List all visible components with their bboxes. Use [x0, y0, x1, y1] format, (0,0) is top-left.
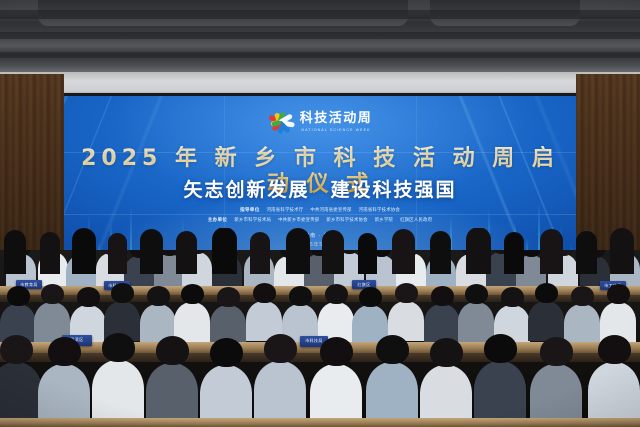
audience-head: [576, 231, 597, 274]
audience-head: [102, 333, 135, 362]
science-week-logo: 科技活动周 NATIONAL SCIENCE WEEK: [268, 110, 373, 134]
audience-head: [484, 334, 517, 363]
audience-head: [250, 232, 270, 274]
audience-head: [40, 232, 60, 274]
organizer-item: 新乡市科学技术局: [234, 217, 271, 225]
audience-head: [4, 230, 26, 274]
audience-head: [156, 336, 189, 365]
audience-head: [540, 229, 563, 274]
audience-member: [366, 362, 418, 422]
event-subtitle: 矢志创新发展 建设科技强国: [64, 178, 576, 202]
audience-head: [571, 286, 594, 306]
organizer-row-guidance: 指导单位 河南省科学技术厅 中共河南省委宣传部 河南省科学技术协会: [64, 207, 576, 215]
organizer-item: 新乡市科学技术协会: [326, 217, 367, 225]
organizer-item: 河南省科学技术协会: [359, 207, 400, 215]
multicolor-starburst-icon: [268, 110, 294, 134]
audience-head: [358, 233, 377, 274]
audience-head: [181, 284, 204, 304]
audience-head: [392, 229, 415, 274]
audience-head: [48, 337, 81, 366]
audience-head: [108, 233, 127, 274]
audience-member: [254, 361, 306, 421]
audience-member: [528, 301, 564, 341]
logo-english-text: NATIONAL SCIENCE WEEK: [301, 127, 370, 133]
audience-head: [466, 228, 491, 274]
ceiling: [0, 0, 640, 74]
audience-head: [176, 231, 197, 274]
audience-head: [147, 286, 170, 306]
audience-head: [376, 335, 409, 364]
audience-head: [607, 284, 630, 304]
audience-member: [200, 365, 252, 425]
audience-head: [77, 287, 100, 307]
organizer-item: 中共新乡市委宣传部: [278, 217, 319, 225]
audience-member: [174, 302, 210, 342]
audience-head: [320, 337, 353, 366]
front-audience-silhouettes: [0, 228, 640, 274]
audience-head: [535, 283, 558, 303]
audience-member: [38, 364, 90, 424]
ceiling-beam: [0, 10, 640, 19]
organizer-item: 河南省科学技术厅: [267, 207, 304, 215]
audience-head: [431, 286, 454, 306]
organizer-item: 新乡学院: [375, 217, 393, 225]
audience-head: [7, 286, 30, 306]
audience-head: [395, 283, 418, 303]
audience-member: [588, 362, 640, 422]
audience-member: [530, 364, 582, 424]
audience-head: [465, 284, 488, 304]
audience-head: [41, 284, 64, 304]
auditorium-photo: 科技活动周 NATIONAL SCIENCE WEEK 2025 年 新 乡 市…: [0, 0, 640, 427]
audience-head: [504, 232, 524, 274]
audience-head: [610, 228, 634, 274]
audience-member: [310, 364, 362, 424]
audience-member: [564, 304, 600, 344]
audience-head: [264, 334, 297, 363]
organizer-row-host: 主办单位 新乡市科学技术局 中共新乡市委宣传部 新乡市科学技术协会 新乡学院 红…: [64, 217, 576, 225]
organizer-item: 红旗区人民政府: [400, 217, 432, 225]
audience-head: [140, 229, 163, 274]
audience-head: [322, 230, 344, 274]
audience-member: [92, 360, 144, 420]
audience-head: [359, 287, 382, 307]
audience-head: [325, 284, 348, 304]
logo-chinese-text: 科技活动周: [300, 112, 373, 126]
desk-row: [0, 418, 640, 427]
organizer-item: 中共河南省委宣传部: [310, 207, 351, 215]
audience-head: [501, 287, 524, 307]
audience-head: [212, 228, 237, 274]
audience-head: [253, 283, 276, 303]
organizer-label: 主办单位: [208, 217, 228, 225]
ceiling-beam: [0, 52, 640, 58]
audience-head: [217, 287, 240, 307]
audience-head: [111, 283, 134, 303]
audience-member: [0, 362, 42, 422]
audience-head: [540, 337, 573, 366]
organizer-label: 指导单位: [240, 207, 260, 215]
audience-head: [72, 228, 96, 274]
audience-member: [458, 302, 494, 342]
audience-head: [430, 338, 463, 367]
audience-member: [420, 365, 472, 425]
audience-head: [286, 228, 310, 274]
audience-head: [430, 231, 451, 274]
audience-head: [598, 335, 631, 364]
audience-area: 市教育局市科技局红旗区市工信局卫滨区市科技局: [0, 250, 640, 427]
audience-head: [210, 338, 243, 367]
audience-member: [146, 363, 198, 423]
audience-head: [0, 335, 33, 364]
audience-member: [474, 361, 526, 421]
audience-head: [289, 286, 312, 306]
ceiling-beam: [0, 32, 640, 39]
